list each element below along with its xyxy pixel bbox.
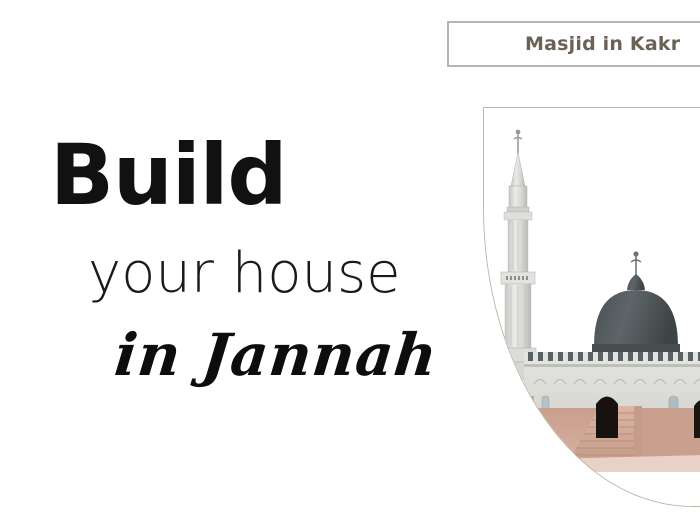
headline-line-build: Build — [50, 133, 287, 217]
caption-label-box[interactable]: Masjid in Kakr — [447, 21, 700, 67]
caption-label-text: Masjid in Kakr — [525, 33, 680, 55]
mosque-photo-panel — [483, 107, 700, 507]
slide-canvas: Build your house in Jannah — [0, 0, 700, 525]
mosque-illustration — [484, 108, 700, 506]
mosque-photo-image — [484, 108, 700, 506]
headline-line-in-jannah: in Jannah — [112, 326, 441, 384]
headline-line-your-house: your house — [88, 246, 401, 302]
headline-block: Build your house in Jannah — [0, 0, 480, 525]
